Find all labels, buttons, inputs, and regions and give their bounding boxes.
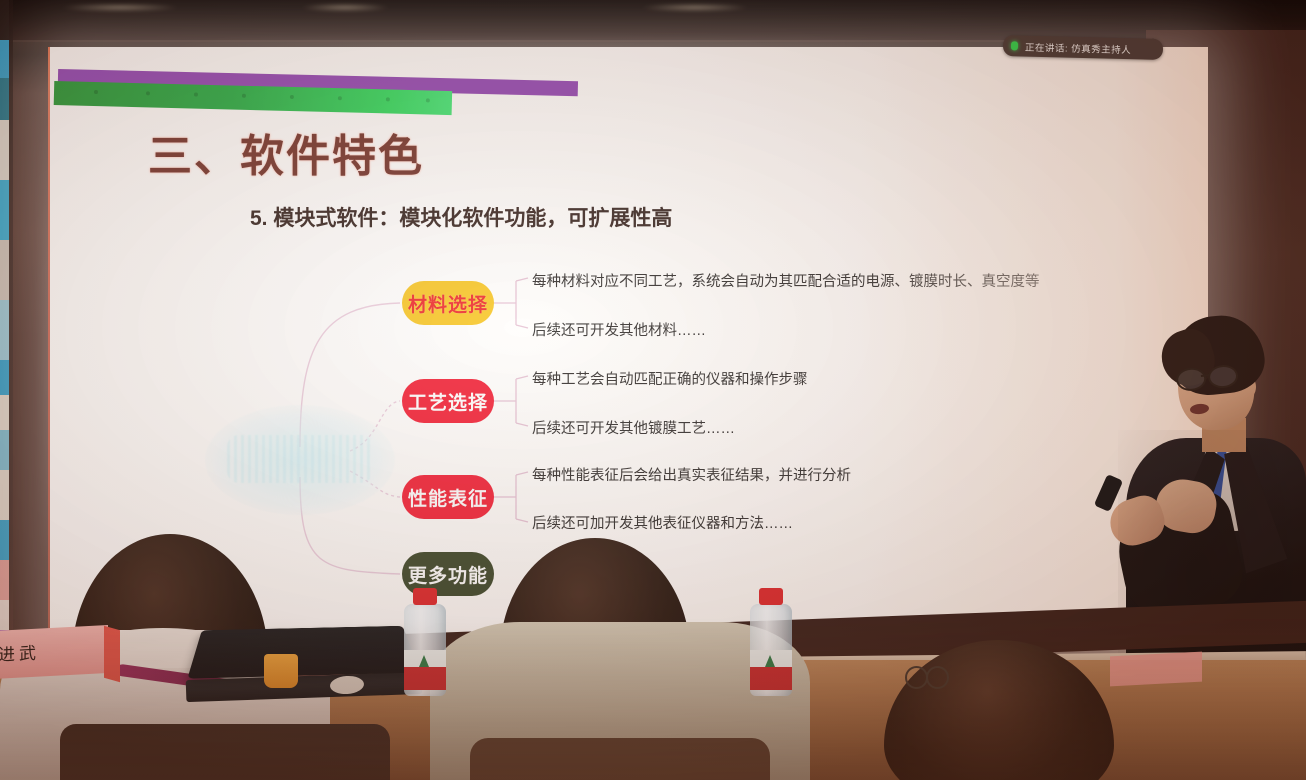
mindmap-leaf: 每种工艺会自动匹配正确的仪器和操作步骤: [532, 368, 808, 389]
screenshot-stage: 三、软件特色 5. 模块式软件：模块化软件功能，可扩展性高: [0, 0, 1306, 780]
name-card-label: 进武: [0, 639, 40, 666]
chair: [60, 724, 390, 780]
mindmap-leaf: 后续还可开发其他材料……: [532, 319, 706, 340]
foreground-audience: 进武: [0, 510, 1306, 780]
status-badge: 正在讲话: 仿真秀主持人: [1003, 35, 1163, 60]
ceiling-light: [640, 4, 750, 11]
laptop: [187, 626, 421, 679]
mindmap-leaf: 后续还可开发其他镀膜工艺……: [532, 417, 735, 438]
bottle-cap: [413, 588, 437, 605]
name-card: 进武: [0, 625, 108, 679]
microphone-active-icon: [1011, 41, 1018, 50]
mindmap-center-node: [205, 405, 395, 515]
ceiling-light: [300, 4, 390, 11]
eyeglasses-on-table: [905, 666, 947, 688]
bottle-cap: [759, 588, 783, 605]
water-bottle: [750, 604, 792, 696]
chair: [470, 738, 770, 780]
name-card: [1110, 652, 1202, 687]
mindmap-leaf: 每种性能表征后会给出真实表征结果，并进行分析: [532, 464, 851, 485]
ceiling-light: [60, 4, 180, 11]
name-card-fold: [104, 626, 120, 683]
mindmap-node-material[interactable]: 材料选择: [402, 281, 494, 325]
paper-cup: [264, 654, 298, 688]
bottle-label: [750, 650, 792, 690]
mindmap-leaf: 每种材料对应不同工艺，系统会自动为其匹配合适的电源、镀膜时长、真空度等: [532, 270, 1040, 291]
water-bottle: [404, 604, 446, 696]
bottle-label: [404, 650, 446, 690]
mindmap-node-process[interactable]: 工艺选择: [402, 379, 494, 423]
ceiling: [0, 0, 1306, 42]
status-badge-label: 正在讲话: 仿真秀主持人: [1025, 39, 1132, 56]
